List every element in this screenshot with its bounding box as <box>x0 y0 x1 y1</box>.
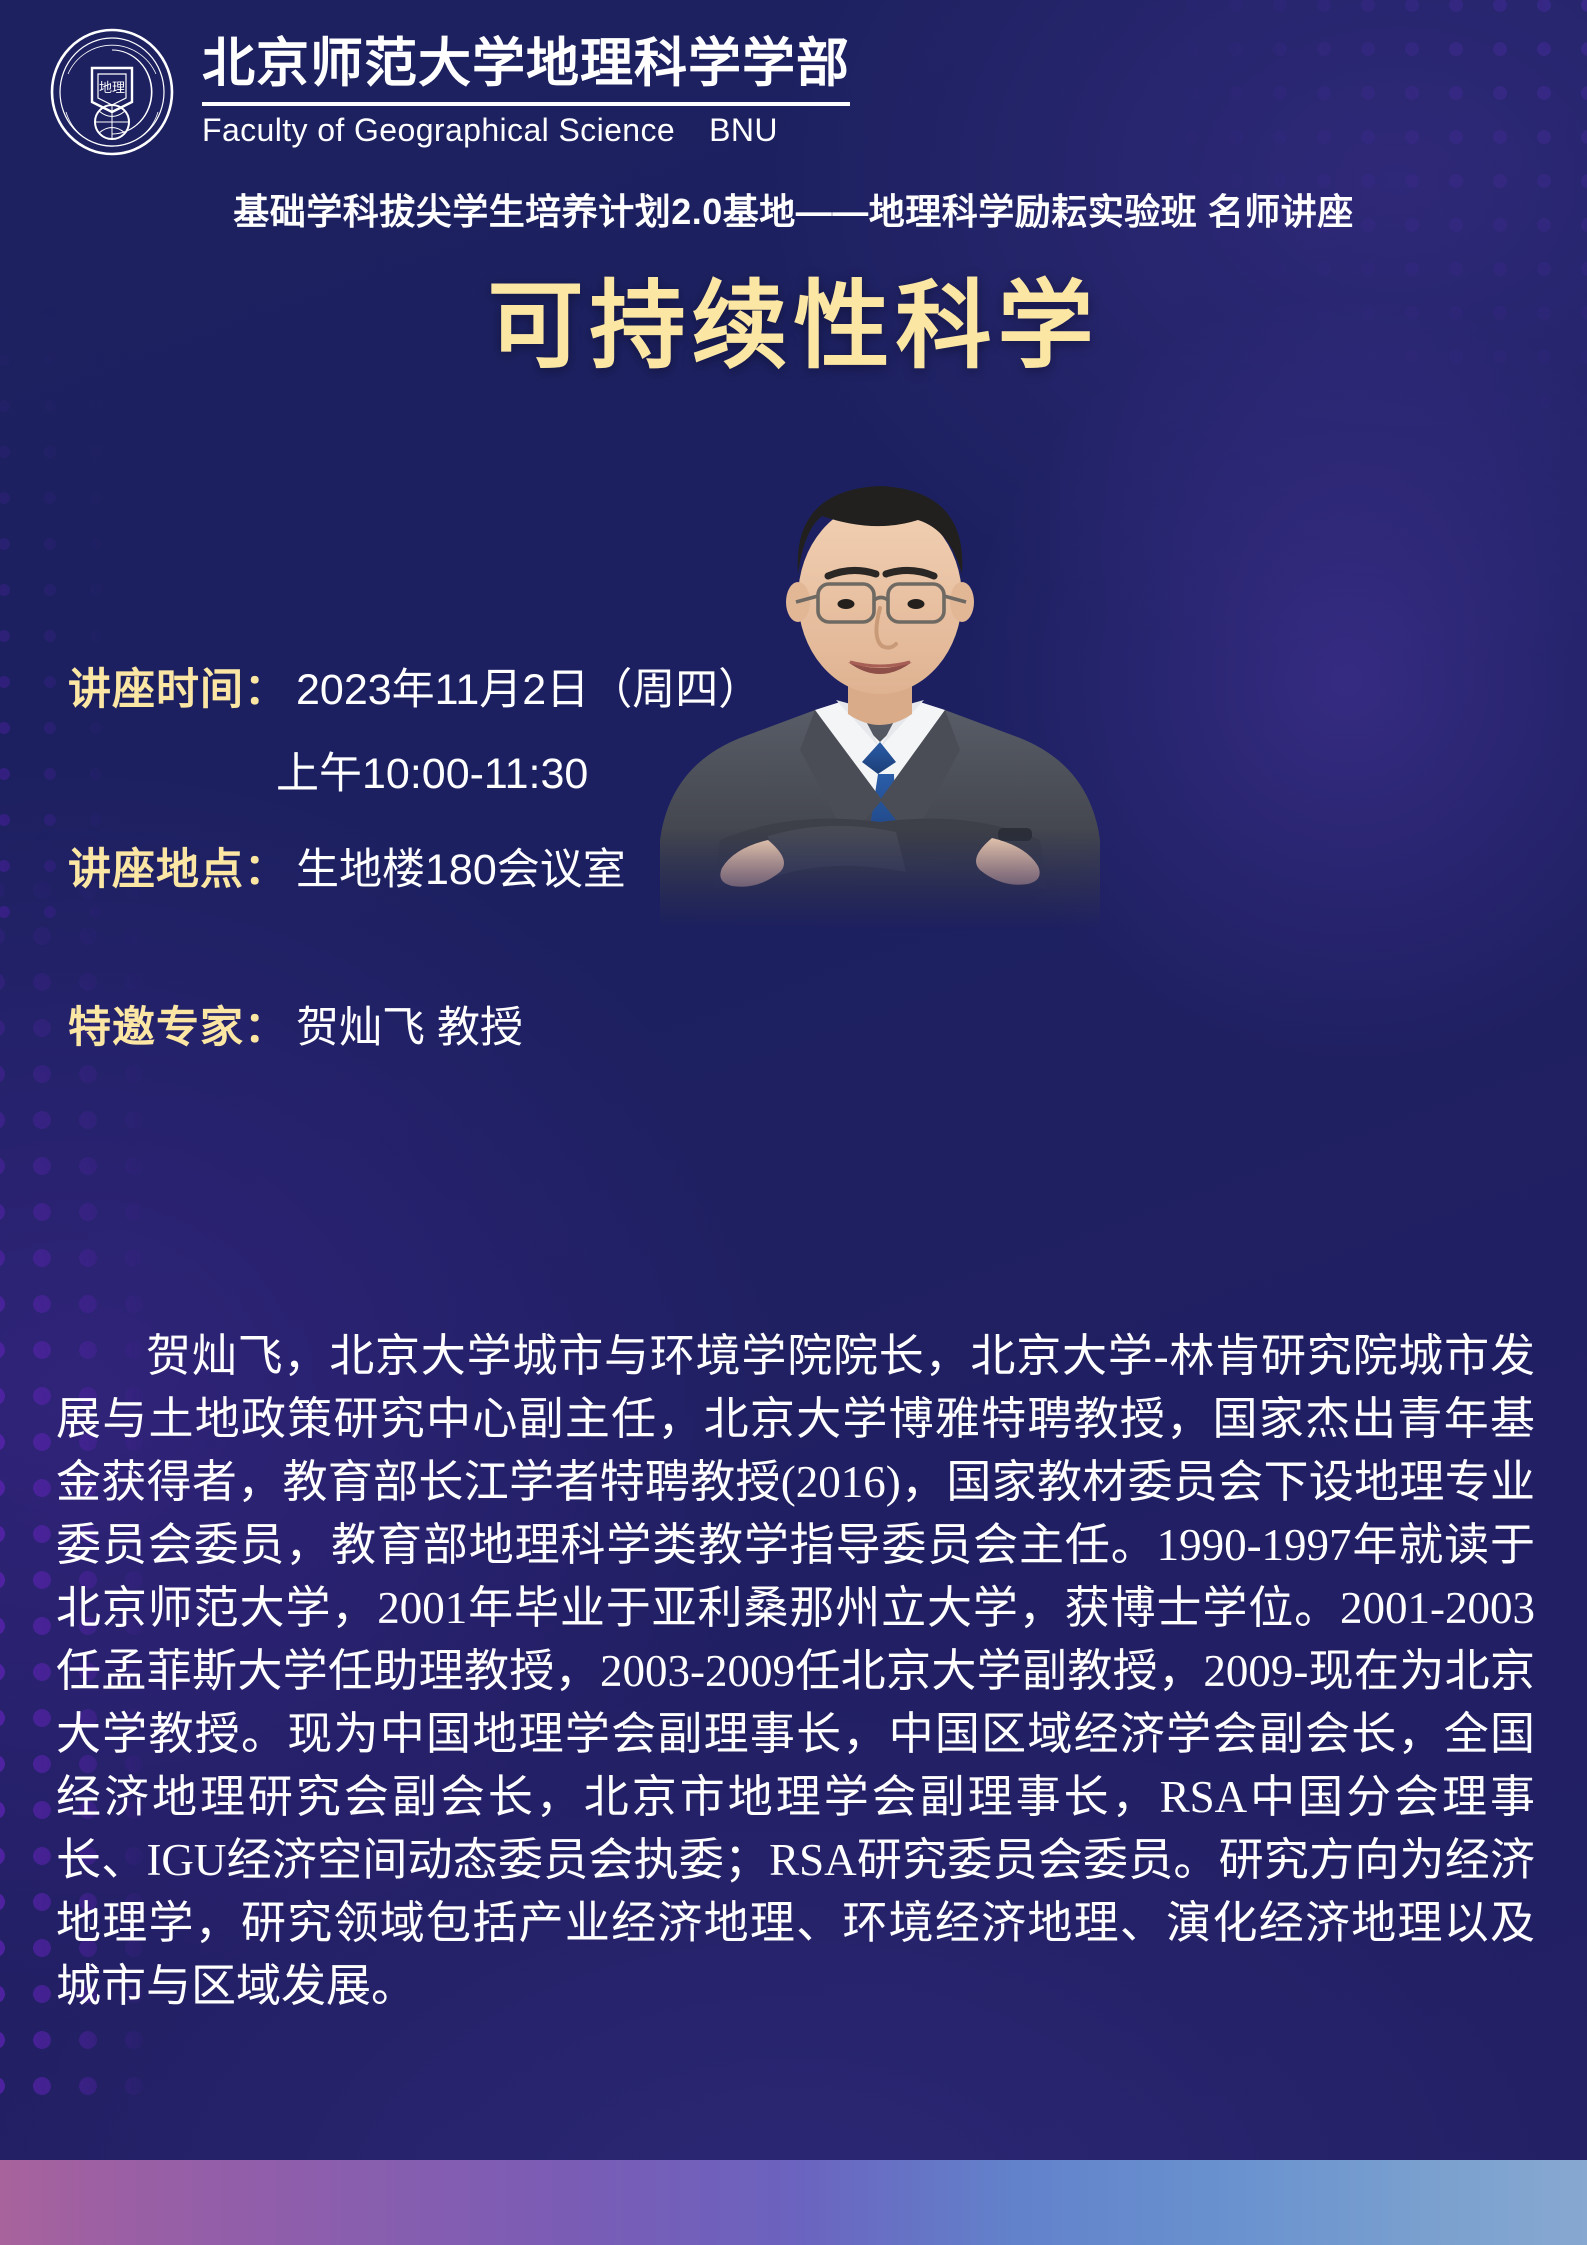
wordmark-divider <box>202 102 850 106</box>
poster-header: 地理 北京师范大学地理科学学部 Faculty of Geographical … <box>48 28 850 156</box>
time-label: 讲座时间： <box>68 655 288 717</box>
svg-text:地理: 地理 <box>99 80 125 95</box>
bnu-geography-seal-icon: 地理 <box>48 28 176 156</box>
details-spacer <box>68 907 788 993</box>
institution-wordmark: 北京师范大学地理科学学部 Faculty of Geographical Sci… <box>202 35 850 148</box>
detail-row-place: 讲座地点： 生地楼180会议室 <box>68 835 788 897</box>
lecture-details: 讲座时间： 2023年11月2日（周四） 上午10:00-11:30 讲座地点：… <box>68 655 788 1065</box>
institution-name-cn: 北京师范大学地理科学学部 <box>202 35 850 94</box>
speaker-value: 贺灿飞 教授 <box>296 993 523 1055</box>
place-label: 讲座地点： <box>68 835 288 897</box>
poster-subtitle: 基础学科拔尖学生培养计划2.0基地——地理科学励耘实验班 名师讲座 <box>0 183 1587 235</box>
detail-row-time: 讲座时间： 2023年11月2日（周四） <box>68 655 788 717</box>
institution-name-en-row: Faculty of Geographical Science BNU <box>202 112 850 149</box>
time-value-second-line: 上午10:00-11:30 <box>276 739 788 801</box>
speaker-bio: 贺灿飞，北京大学城市与环境学院院长，北京大学-林肯研究院城市发展与土地政策研究中… <box>56 1325 1535 2018</box>
poster-title: 可持续性科学 <box>0 248 1587 387</box>
lecture-poster: 地理 北京师范大学地理科学学部 Faculty of Geographical … <box>0 0 1587 2245</box>
speaker-label: 特邀专家： <box>68 993 288 1055</box>
time-value: 2023年11月2日（周四） <box>296 655 761 717</box>
detail-row-speaker: 特邀专家： 贺灿飞 教授 <box>68 993 788 1055</box>
place-value: 生地楼180会议室 <box>296 835 626 897</box>
institution-name-en: Faculty of Geographical Science <box>202 112 675 149</box>
footer-gradient-bar <box>0 2160 1587 2245</box>
institution-abbr: BNU <box>709 112 778 149</box>
